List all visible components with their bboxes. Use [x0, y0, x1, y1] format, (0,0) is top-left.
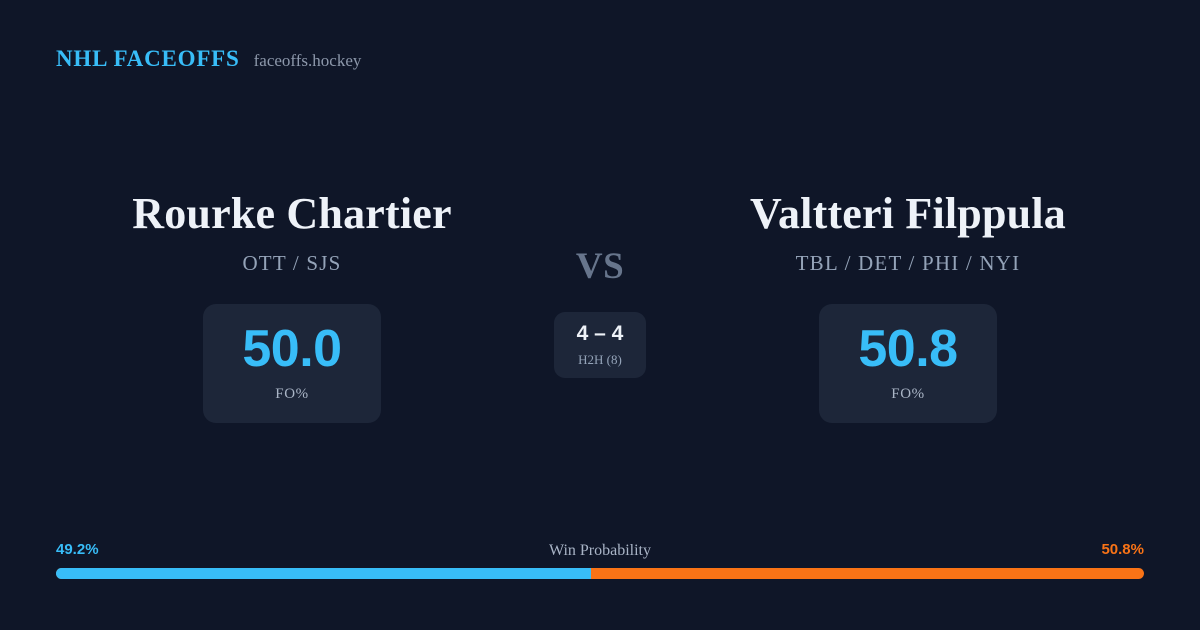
player-right-faceoff-label: FO% [891, 386, 924, 403]
player-right: Valtteri Filppula TBL / DET / PHI / NYI … [675, 190, 1141, 423]
player-left-name: Rourke Chartier [132, 190, 452, 238]
head-to-head-card: 4 – 4 H2H (8) [554, 312, 646, 378]
brand-title: NHL FACEOFFS [56, 46, 240, 72]
player-left-teams: OTT / SJS [242, 251, 341, 276]
win-probability-right-value: 50.8% [1101, 541, 1144, 558]
header: NHL FACEOFFS faceoffs.hockey [56, 46, 361, 72]
infographic-canvas: NHL FACEOFFS faceoffs.hockey Rourke Char… [0, 0, 1200, 630]
player-left: Rourke Chartier OTT / SJS 50.0 FO% [59, 190, 525, 423]
versus-label: VS [576, 248, 624, 285]
head-to-head-score: 4 – 4 [577, 323, 624, 344]
win-probability-bar [56, 568, 1144, 579]
player-right-stat-card: 50.8 FO% [819, 304, 997, 423]
brand-site: faceoffs.hockey [254, 51, 362, 71]
win-probability-title: Win Probability [56, 542, 1144, 560]
matchup-section: Rourke Chartier OTT / SJS 50.0 FO% VS 4 … [0, 190, 1200, 423]
win-probability-bar-left-fill [56, 568, 591, 579]
player-left-faceoff-label: FO% [275, 386, 308, 403]
versus-block: VS 4 – 4 H2H (8) [525, 190, 675, 378]
player-left-faceoff-value: 50.0 [242, 323, 341, 375]
player-right-name: Valtteri Filppula [750, 190, 1066, 238]
player-right-teams: TBL / DET / PHI / NYI [796, 251, 1021, 276]
player-right-faceoff-value: 50.8 [858, 323, 957, 375]
player-left-stat-card: 50.0 FO% [203, 304, 381, 423]
win-probability-section: 49.2% Win Probability 50.8% [56, 541, 1144, 579]
head-to-head-label: H2H (8) [578, 352, 622, 368]
win-probability-labels: 49.2% Win Probability 50.8% [56, 541, 1144, 561]
